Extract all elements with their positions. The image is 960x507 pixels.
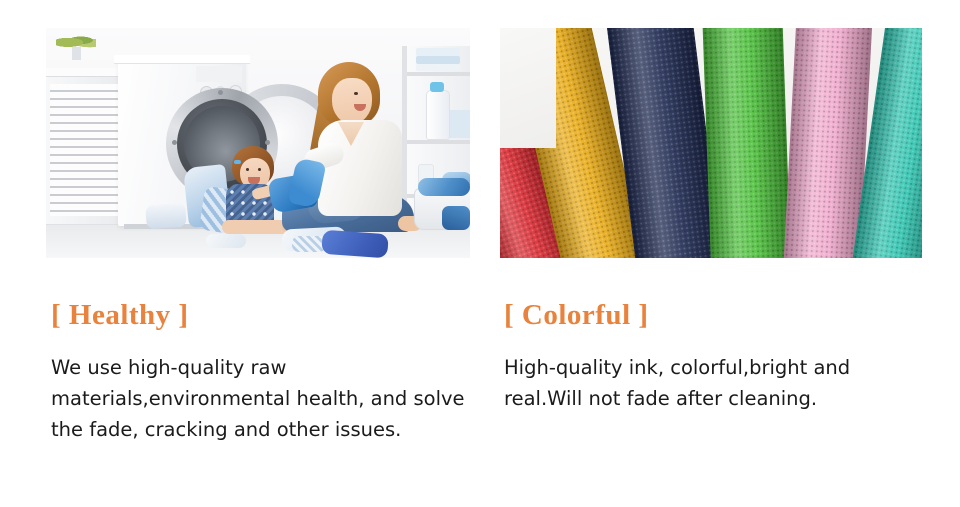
laundry-room-photo (46, 28, 470, 258)
fabric-roll-green (702, 28, 792, 258)
feature-heading-healthy: [ Healthy ] (46, 258, 480, 330)
control-panel (196, 66, 242, 82)
folded-towel (416, 64, 460, 71)
bottle-cap (430, 82, 444, 92)
feature-body-colorful: High-quality ink, colorful,bright and re… (500, 330, 934, 414)
storage-box (450, 110, 470, 138)
child-eye (258, 168, 261, 171)
folded-towel (416, 56, 460, 64)
mother-face (332, 78, 372, 124)
plant-icon (56, 34, 96, 48)
mother-eye (354, 92, 358, 95)
laundry-cloth (145, 203, 187, 230)
feature-grid: [ Healthy ] We use high-quality raw mate… (0, 0, 960, 507)
basket-linen (418, 178, 470, 196)
hair-clip (234, 160, 241, 164)
feature-card-colorful: [ Colorful ] High-quality ink, colorful,… (480, 0, 960, 507)
drum-bolt (172, 140, 177, 145)
feature-panel: [ Healthy ] We use high-quality raw mate… (0, 0, 960, 507)
folded-towel (416, 48, 460, 56)
floor-laundry (321, 230, 389, 258)
washing-machine-top (114, 55, 250, 63)
floor-laundry (206, 234, 246, 248)
feature-body-healthy: We use high-quality raw materials,enviro… (46, 330, 471, 445)
basket-linen (442, 206, 470, 230)
mother-shirt (318, 120, 402, 216)
feature-card-healthy: [ Healthy ] We use high-quality raw mate… (0, 0, 480, 507)
plant-pot (72, 47, 81, 60)
child-eye (246, 168, 249, 171)
shelf-board (407, 140, 470, 144)
fabric-rolls-photo (500, 28, 922, 258)
shelf-board (407, 72, 470, 76)
feature-heading-colorful: [ Colorful ] (500, 258, 960, 330)
drum-bolt (218, 90, 223, 95)
detergent-bottle (426, 90, 450, 140)
photo-background (500, 28, 556, 148)
drum-bolt (265, 140, 270, 145)
